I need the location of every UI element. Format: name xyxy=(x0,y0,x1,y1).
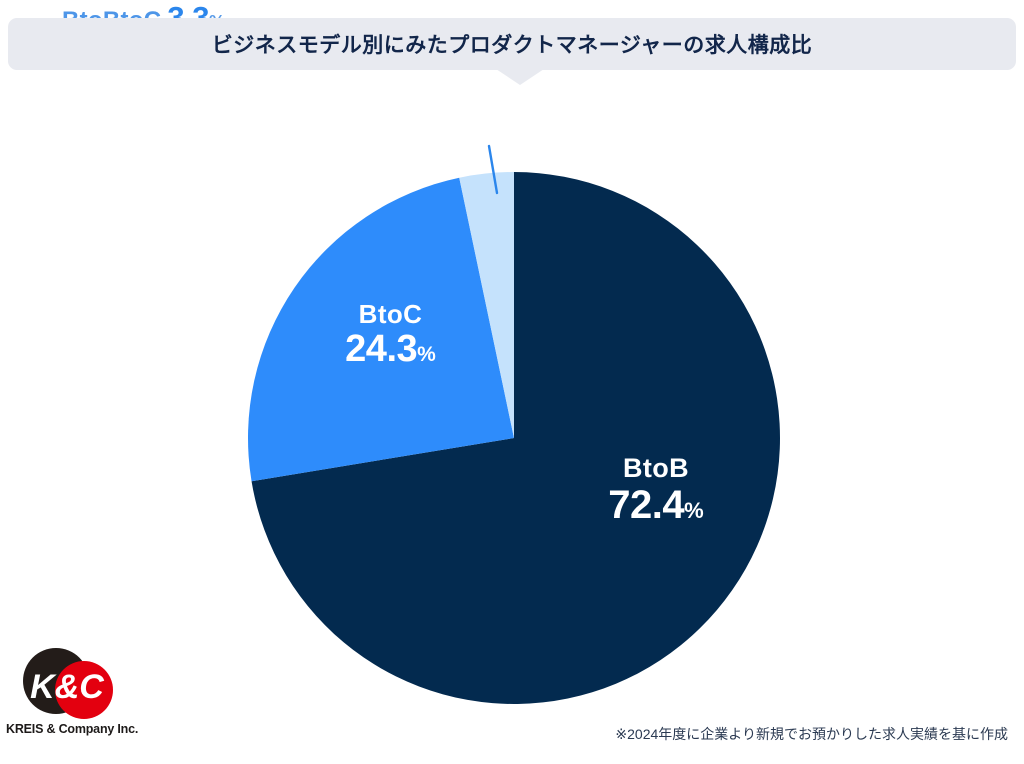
slice-label-btoc-valuerow: 24.3% xyxy=(303,330,478,370)
slice-label-btob-percent-symbol: % xyxy=(684,498,704,523)
pie-slice-btob xyxy=(252,172,780,704)
slice-label-btoc: BtoC 24.3% xyxy=(303,301,478,370)
pie-chart-svg xyxy=(0,0,1024,764)
footnote-source-note: ※2024年度に企業より新規でお預かりした求人実績を基に作成 xyxy=(615,724,1008,744)
title-banner-tail xyxy=(496,69,544,85)
company-logo: K&C KREIS & Company Inc. xyxy=(6,648,134,752)
logo-mark: K&C xyxy=(14,648,122,722)
slice-label-btob-valuerow: 72.4% xyxy=(566,484,746,526)
pie-chart xyxy=(0,0,1024,764)
slice-label-btob: BtoB 72.4% xyxy=(566,454,746,526)
logo-caption: KREIS & Company Inc. xyxy=(6,722,134,736)
slice-label-btob-name: BtoB xyxy=(566,454,746,482)
pie-slice-group xyxy=(248,172,780,704)
slice-label-btoc-name: BtoC xyxy=(303,301,478,328)
slice-label-btoc-percent-symbol: % xyxy=(417,343,436,366)
slice-label-btoc-value: 24.3 xyxy=(345,328,417,370)
page-title: ビジネスモデル別にみたプロダクトマネージャーの求人構成比 xyxy=(212,29,813,59)
title-banner: ビジネスモデル別にみたプロダクトマネージャーの求人構成比 xyxy=(8,18,1016,70)
logo-monogram: K&C xyxy=(30,668,104,706)
slice-label-btob-value: 72.4 xyxy=(608,483,684,527)
btobtoc-leader-line xyxy=(489,146,497,193)
